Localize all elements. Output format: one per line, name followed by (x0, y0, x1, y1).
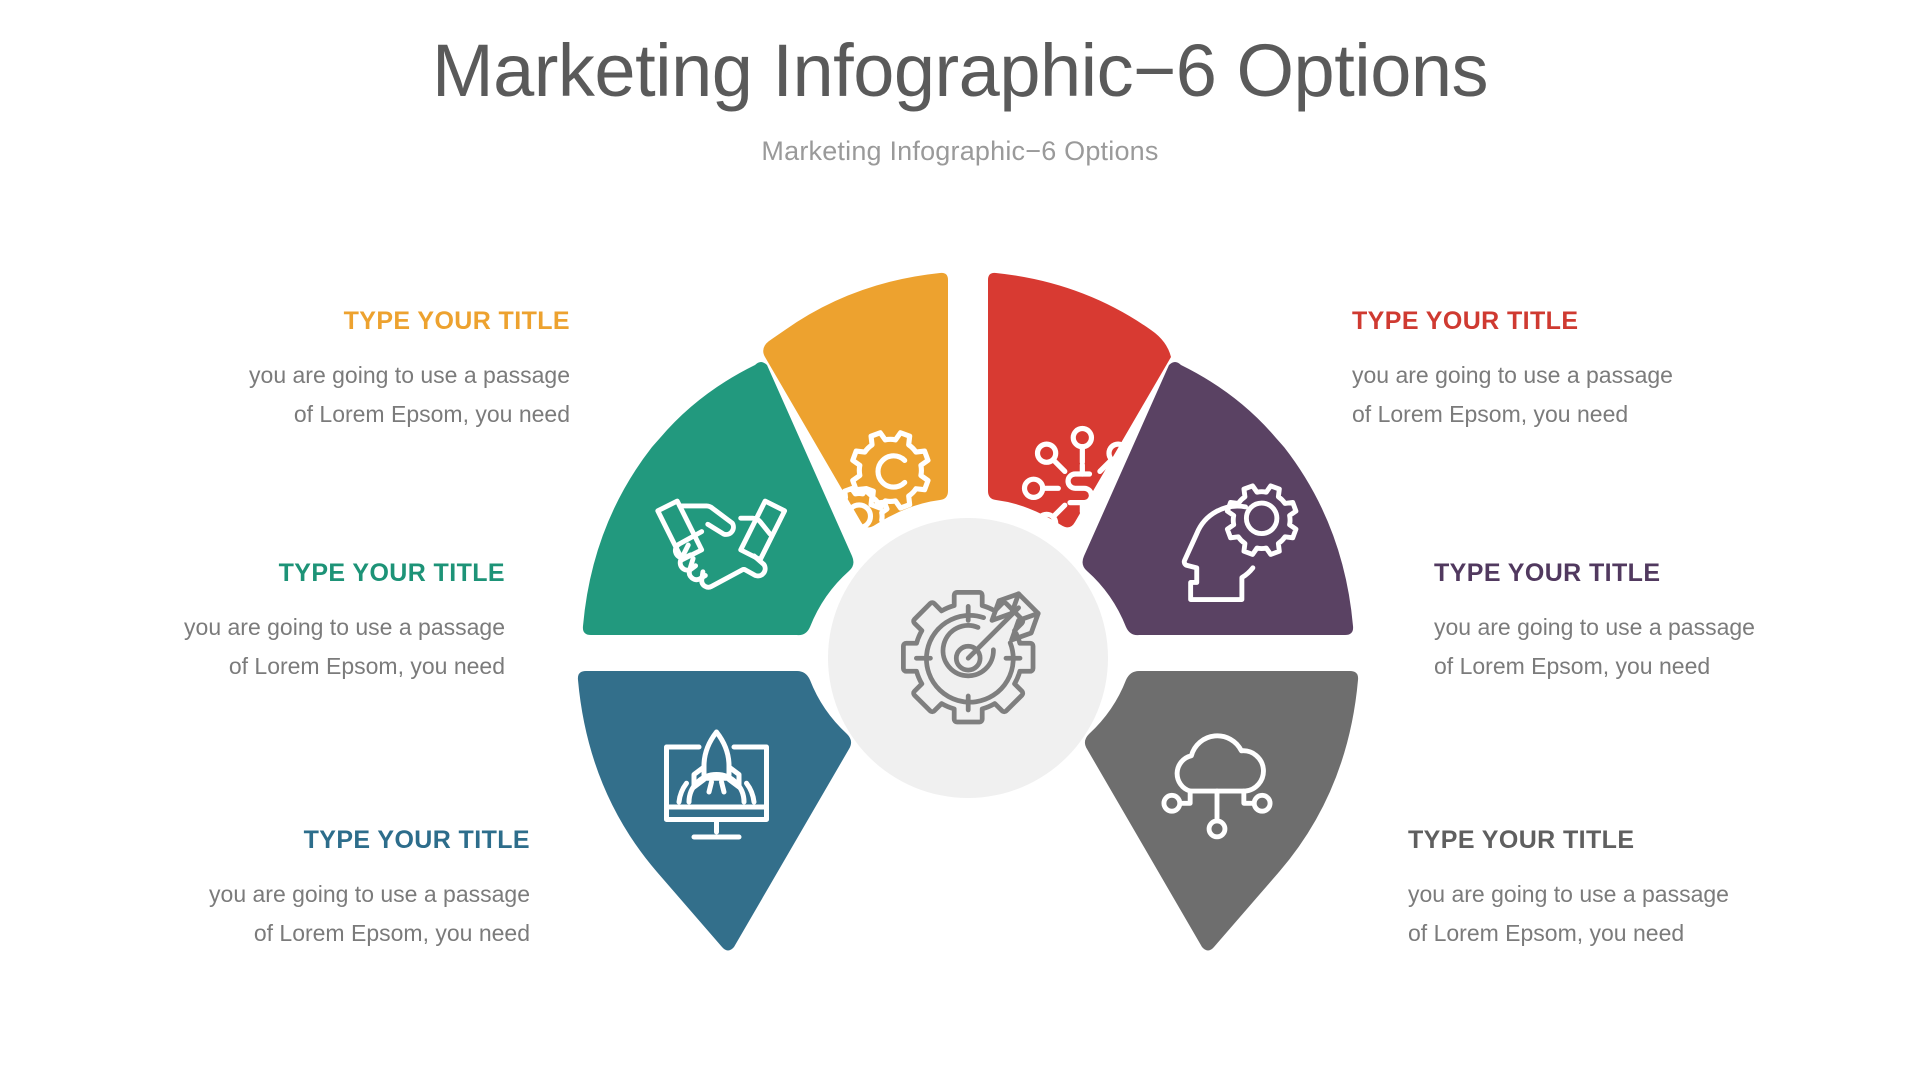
page-subtitle: Marketing Infographic−6 Options (0, 136, 1920, 167)
panel-orange[interactable]: TYPE YOUR TITLE you are going to use a p… (140, 306, 570, 433)
panel-purple[interactable]: TYPE YOUR TITLE you are going to use a p… (1434, 558, 1864, 685)
panel-red-line-1: you are going to use a passage (1352, 356, 1782, 395)
center-hub (828, 518, 1108, 798)
panel-red-line-2: of Lorem Epsom, you need (1352, 395, 1782, 434)
panel-teal-title: TYPE YOUR TITLE (75, 558, 505, 588)
segment-blue[interactable] (578, 671, 851, 951)
segmented-wheel (548, 272, 1388, 1012)
panel-red-title: TYPE YOUR TITLE (1352, 306, 1782, 336)
segment-gray[interactable] (1085, 671, 1358, 951)
panel-blue-line-1: you are going to use a passage (100, 875, 530, 914)
segment-blue-petal[interactable] (578, 671, 851, 951)
panel-purple-line-2: of Lorem Epsom, you need (1434, 647, 1864, 686)
panel-purple-line-1: you are going to use a passage (1434, 608, 1864, 647)
page-title: Marketing Infographic−6 Options (0, 32, 1920, 110)
panel-teal[interactable]: TYPE YOUR TITLE you are going to use a p… (75, 558, 505, 685)
panel-blue-line-2: of Lorem Epsom, you need (100, 914, 530, 953)
panel-gray-line-2: of Lorem Epsom, you need (1408, 914, 1838, 953)
panel-red[interactable]: TYPE YOUR TITLE you are going to use a p… (1352, 306, 1782, 433)
segment-gray-petal[interactable] (1085, 671, 1358, 951)
panel-blue[interactable]: TYPE YOUR TITLE you are going to use a p… (100, 825, 530, 952)
header: Marketing Infographic−6 Options Marketin… (0, 32, 1920, 167)
panel-purple-title: TYPE YOUR TITLE (1434, 558, 1864, 588)
panel-teal-line-2: of Lorem Epsom, you need (75, 647, 505, 686)
panel-orange-line-2: of Lorem Epsom, you need (140, 395, 570, 434)
panel-gray[interactable]: TYPE YOUR TITLE you are going to use a p… (1408, 825, 1838, 952)
panel-gray-line-1: you are going to use a passage (1408, 875, 1838, 914)
panel-teal-line-1: you are going to use a passage (75, 608, 505, 647)
panel-orange-line-1: you are going to use a passage (140, 356, 570, 395)
panel-orange-title: TYPE YOUR TITLE (140, 306, 570, 336)
infographic-canvas: Marketing Infographic−6 Options Marketin… (0, 0, 1920, 1080)
panel-gray-title: TYPE YOUR TITLE (1408, 825, 1838, 855)
panel-blue-title: TYPE YOUR TITLE (100, 825, 530, 855)
